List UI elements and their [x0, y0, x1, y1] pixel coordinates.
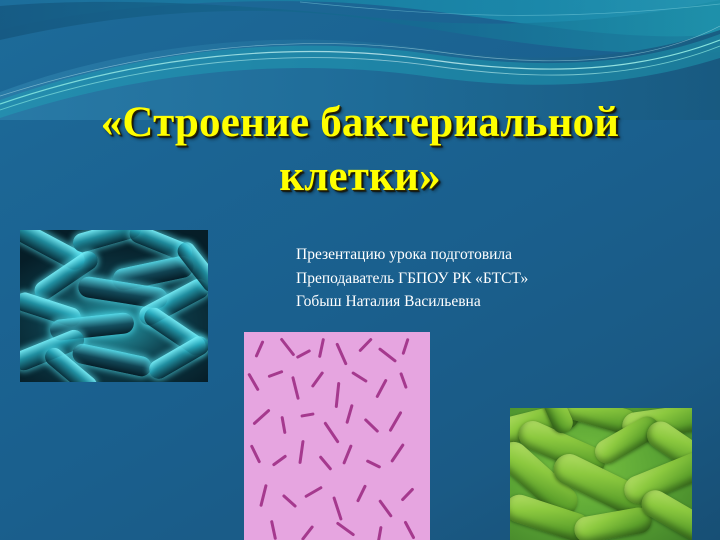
slide-subtitle-block: Презентацию урока подготовила Преподават…: [296, 243, 596, 314]
pink-gram-stain-photo: [244, 332, 430, 540]
body-line-2: Преподаватель ГБПОУ РК «БТСТ»: [296, 267, 596, 291]
title-line-2: клетки»: [30, 150, 690, 204]
green-bacteria-photo: [510, 408, 692, 540]
slide-title: «Строение бактериальной клетки»: [30, 96, 690, 204]
body-line-3: Гобыш Наталия Васильевна: [296, 290, 596, 314]
body-line-1: Презентацию урока подготовила: [296, 243, 596, 267]
title-line-1: «Строение бактериальной: [30, 96, 690, 150]
teal-bacteria-photo: [20, 230, 208, 382]
presentation-slide: «Строение бактериальной клетки» Презента…: [0, 0, 720, 540]
